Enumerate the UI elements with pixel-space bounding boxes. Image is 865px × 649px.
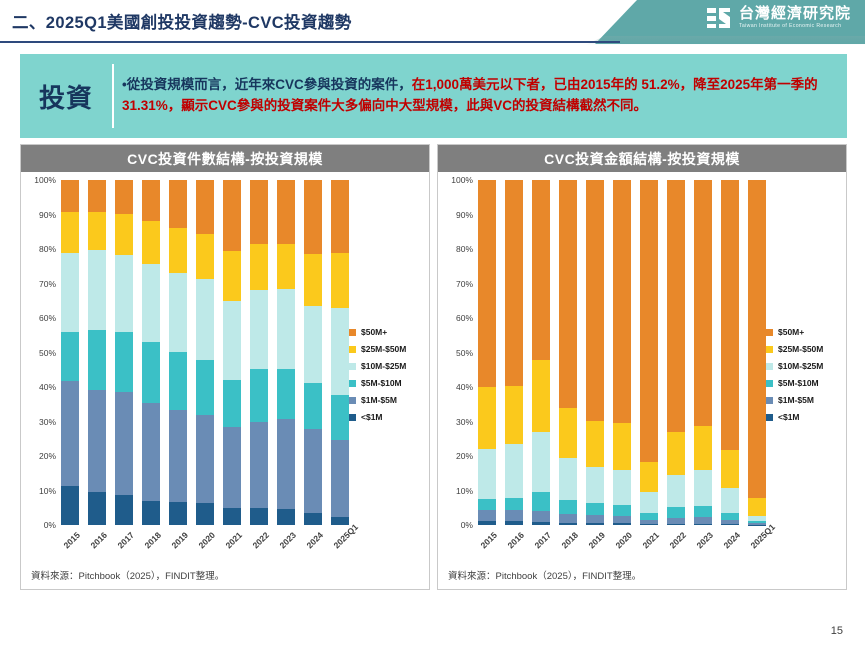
bar-segment bbox=[586, 515, 604, 523]
header-underline bbox=[0, 41, 620, 43]
bar-segment bbox=[142, 403, 160, 501]
y-axis-tick: 80% bbox=[39, 244, 56, 254]
legend-item[interactable]: $25M-$50M bbox=[349, 344, 425, 354]
y-axis-tick: 40% bbox=[456, 382, 473, 392]
bar-segment bbox=[196, 503, 214, 525]
bar-segment bbox=[559, 180, 577, 408]
bar-segment bbox=[640, 180, 658, 462]
bar-segment bbox=[277, 509, 295, 525]
logo-text-block: 台灣經濟研究院 Taiwan Institute of Economic Res… bbox=[739, 6, 851, 29]
stacked-bar[interactable] bbox=[532, 180, 550, 525]
bar-segment bbox=[115, 255, 133, 332]
bar-segment bbox=[115, 495, 133, 525]
legend-label: $10M-$25M bbox=[778, 361, 823, 371]
bar-segment bbox=[304, 254, 322, 306]
bar-segment bbox=[304, 513, 322, 525]
legend-label: $50M+ bbox=[778, 327, 804, 337]
source-note-deal-value: 資料來源：Pitchbook（2025），FINDIT整理。 bbox=[448, 568, 641, 582]
stacked-bar[interactable] bbox=[250, 180, 268, 525]
bar-segment bbox=[505, 444, 523, 497]
bar-segment bbox=[88, 180, 106, 212]
y-axis-tick: 50% bbox=[39, 348, 56, 358]
bar-segment bbox=[613, 180, 631, 423]
page-number: 15 bbox=[831, 625, 843, 637]
bar-segment bbox=[532, 511, 550, 521]
bar-segment bbox=[223, 180, 241, 251]
legend-deal-count: $50M+$25M-$50M$10M-$25M$5M-$10M$1M-$5M<$… bbox=[349, 327, 425, 429]
bar-segment bbox=[667, 507, 685, 517]
bar-segment bbox=[331, 517, 349, 525]
stacked-bar[interactable] bbox=[115, 180, 133, 525]
y-axis-deal-value: 100%90%80%70%60%50%40%30%20%10%0% bbox=[438, 180, 476, 525]
bar-segment bbox=[250, 422, 268, 509]
stacked-bar[interactable] bbox=[505, 180, 523, 525]
bar-segment bbox=[694, 180, 712, 426]
legend-label: $25M-$50M bbox=[778, 344, 823, 354]
stacked-bar[interactable] bbox=[721, 180, 739, 525]
bar-segment bbox=[169, 180, 187, 228]
header-ribbon-shadow bbox=[585, 36, 865, 45]
bar-segment bbox=[169, 273, 187, 352]
y-axis-tick: 100% bbox=[451, 175, 473, 185]
stacked-bar[interactable] bbox=[277, 180, 295, 525]
bar-group-deal-value bbox=[478, 180, 766, 525]
bar-segment bbox=[250, 180, 268, 244]
bar-segment bbox=[505, 386, 523, 445]
bar-segment bbox=[61, 332, 79, 380]
bar-segment bbox=[748, 180, 766, 498]
bar-segment bbox=[721, 524, 739, 525]
legend-item[interactable]: <$1M bbox=[349, 412, 425, 422]
legend-deal-value: $50M+$25M-$50M$10M-$25M$5M-$10M$1M-$5M<$… bbox=[766, 327, 842, 429]
bar-segment bbox=[61, 212, 79, 253]
y-axis-tick: 0% bbox=[461, 520, 473, 530]
bar-segment bbox=[478, 499, 496, 511]
bar-segment bbox=[88, 250, 106, 331]
bar-segment bbox=[223, 301, 241, 380]
bar-segment bbox=[586, 421, 604, 467]
bar-segment bbox=[142, 342, 160, 402]
bar-segment bbox=[304, 306, 322, 384]
bar-segment bbox=[559, 500, 577, 514]
bar-segment bbox=[640, 462, 658, 492]
legend-swatch bbox=[349, 363, 356, 370]
bar-group-deal-count bbox=[61, 180, 349, 525]
bar-segment bbox=[478, 521, 496, 525]
bar-segment bbox=[721, 513, 739, 520]
y-axis-tick: 60% bbox=[39, 313, 56, 323]
tier-logo-icon bbox=[706, 5, 732, 31]
bar-segment bbox=[61, 486, 79, 525]
legend-item[interactable]: $25M-$50M bbox=[766, 344, 842, 354]
bar-segment bbox=[250, 290, 268, 369]
legend-swatch bbox=[766, 414, 773, 421]
legend-item[interactable]: $5M-$10M bbox=[349, 378, 425, 388]
bar-segment bbox=[331, 253, 349, 308]
stacked-bar[interactable] bbox=[169, 180, 187, 525]
slide-header: 台灣經濟研究院 Taiwan Institute of Economic Res… bbox=[0, 0, 865, 44]
legend-label: $25M-$50M bbox=[361, 344, 406, 354]
legend-swatch bbox=[766, 329, 773, 336]
bar-segment bbox=[223, 380, 241, 427]
source-note-deal-count: 資料來源：Pitchbook（2025），FINDIT整理。 bbox=[31, 568, 224, 582]
bar-segment bbox=[721, 488, 739, 513]
legend-item[interactable]: $50M+ bbox=[766, 327, 842, 337]
y-axis-tick: 0% bbox=[44, 520, 56, 530]
bar-segment bbox=[250, 244, 268, 290]
bar-segment bbox=[478, 387, 496, 449]
bar-segment bbox=[250, 369, 268, 421]
bar-segment bbox=[667, 432, 685, 475]
bar-segment bbox=[748, 498, 766, 515]
bar-segment bbox=[196, 234, 214, 280]
bar-segment bbox=[277, 369, 295, 420]
bar-segment bbox=[721, 450, 739, 488]
bar-segment bbox=[694, 506, 712, 517]
legend-swatch bbox=[349, 380, 356, 387]
organization-logo: 台灣經濟研究院 Taiwan Institute of Economic Res… bbox=[706, 5, 851, 31]
bar-segment bbox=[115, 392, 133, 494]
bar-segment bbox=[694, 517, 712, 524]
bar-segment bbox=[223, 427, 241, 507]
bar-segment bbox=[331, 440, 349, 517]
legend-label: $50M+ bbox=[361, 327, 387, 337]
y-axis-tick: 10% bbox=[39, 486, 56, 496]
bar-segment bbox=[196, 360, 214, 415]
bar-segment bbox=[613, 423, 631, 470]
logo-text-english: Taiwan Institute of Economic Research bbox=[739, 24, 851, 29]
bar-segment bbox=[694, 524, 712, 525]
plot-area-deal-value bbox=[478, 180, 766, 525]
legend-swatch bbox=[349, 397, 356, 404]
bar-segment bbox=[88, 212, 106, 250]
bar-segment bbox=[223, 251, 241, 301]
legend-label: $1M-$5M bbox=[778, 395, 814, 405]
bar-segment bbox=[169, 228, 187, 273]
bar-segment bbox=[586, 467, 604, 503]
stacked-bar[interactable] bbox=[142, 180, 160, 525]
bar-segment bbox=[169, 502, 187, 525]
callout-box: 投資 •從投資規模而言，近年來CVC參與投資的案件，在1,000萬美元以下者，已… bbox=[20, 54, 847, 138]
callout-text-lead: 從投資規模而言，近年來CVC參與投資的案件， bbox=[127, 77, 412, 92]
bar-segment bbox=[304, 180, 322, 254]
bar-segment bbox=[667, 475, 685, 508]
stacked-bar[interactable] bbox=[223, 180, 241, 525]
y-axis-deal-count: 100%90%80%70%60%50%40%30%20%10%0% bbox=[21, 180, 59, 525]
bar-segment bbox=[532, 492, 550, 511]
y-axis-tick: 40% bbox=[39, 382, 56, 392]
chart-title-deal-value: CVC投資金額結構-按投資規模 bbox=[438, 145, 846, 172]
bar-segment bbox=[142, 264, 160, 342]
stacked-bar[interactable] bbox=[559, 180, 577, 525]
bar-segment bbox=[667, 180, 685, 432]
y-axis-tick: 70% bbox=[456, 279, 473, 289]
callout-tag-label: 投資 bbox=[20, 78, 112, 115]
bar-segment bbox=[559, 458, 577, 499]
y-axis-tick: 90% bbox=[456, 210, 473, 220]
bar-segment bbox=[478, 180, 496, 387]
bar-segment bbox=[223, 508, 241, 525]
y-axis-tick: 100% bbox=[34, 175, 56, 185]
stacked-bar[interactable] bbox=[640, 180, 658, 525]
legend-swatch bbox=[766, 363, 773, 370]
bar-segment bbox=[61, 253, 79, 332]
chart-panel-deal-count: CVC投資件數結構-按投資規模 100%90%80%70%60%50%40%30… bbox=[20, 144, 430, 590]
y-axis-tick: 20% bbox=[456, 451, 473, 461]
y-axis-tick: 90% bbox=[39, 210, 56, 220]
bar-segment bbox=[277, 289, 295, 368]
bar-segment bbox=[559, 408, 577, 458]
bar-segment bbox=[505, 510, 523, 521]
legend-label: $1M-$5M bbox=[361, 395, 397, 405]
stacked-bar[interactable] bbox=[304, 180, 322, 525]
legend-swatch bbox=[349, 414, 356, 421]
bar-segment bbox=[613, 516, 631, 523]
legend-item[interactable]: <$1M bbox=[766, 412, 842, 422]
legend-swatch bbox=[766, 346, 773, 353]
slide-root: 台灣經濟研究院 Taiwan Institute of Economic Res… bbox=[0, 0, 865, 649]
legend-item[interactable]: $1M-$5M bbox=[349, 395, 425, 405]
page-title: 二、2025Q1美國創投投資趨勢-CVC投資趨勢 bbox=[12, 9, 352, 33]
legend-item[interactable]: $50M+ bbox=[349, 327, 425, 337]
chart-body-deal-count: 100%90%80%70%60%50%40%30%20%10%0% 201520… bbox=[21, 172, 429, 590]
y-axis-tick: 70% bbox=[39, 279, 56, 289]
logo-text-chinese: 台灣經濟研究院 bbox=[739, 6, 851, 21]
legend-item[interactable]: $5M-$10M bbox=[766, 378, 842, 388]
legend-label: $5M-$10M bbox=[361, 378, 402, 388]
bar-segment bbox=[331, 395, 349, 440]
bar-segment bbox=[586, 503, 604, 515]
stacked-bar[interactable] bbox=[748, 180, 766, 525]
bar-segment bbox=[640, 524, 658, 525]
plot-area-deal-count bbox=[61, 180, 349, 525]
bar-segment bbox=[115, 180, 133, 214]
y-axis-tick: 30% bbox=[39, 417, 56, 427]
bar-segment bbox=[532, 360, 550, 432]
bar-segment bbox=[331, 180, 349, 253]
bar-segment bbox=[142, 180, 160, 221]
bar-segment bbox=[61, 381, 79, 487]
legend-label: <$1M bbox=[361, 412, 383, 422]
legend-swatch bbox=[766, 397, 773, 404]
bar-segment bbox=[88, 330, 106, 390]
bar-segment bbox=[196, 279, 214, 359]
bar-segment bbox=[613, 470, 631, 505]
bar-segment bbox=[88, 390, 106, 492]
bar-segment bbox=[196, 180, 214, 234]
chart-body-deal-value: 100%90%80%70%60%50%40%30%20%10%0% 201520… bbox=[438, 172, 846, 590]
bar-segment bbox=[586, 180, 604, 421]
legend-item[interactable]: $1M-$5M bbox=[766, 395, 842, 405]
bar-segment bbox=[505, 521, 523, 525]
y-axis-tick: 20% bbox=[39, 451, 56, 461]
bar-segment bbox=[169, 410, 187, 502]
y-axis-tick: 60% bbox=[456, 313, 473, 323]
bar-segment bbox=[169, 352, 187, 410]
legend-label: $5M-$10M bbox=[778, 378, 819, 388]
bar-segment bbox=[331, 308, 349, 395]
y-axis-tick: 50% bbox=[456, 348, 473, 358]
y-axis-tick: 80% bbox=[456, 244, 473, 254]
bar-segment bbox=[61, 180, 79, 212]
legend-swatch bbox=[349, 329, 356, 336]
bar-segment bbox=[196, 415, 214, 503]
chart-panel-deal-value: CVC投資金額結構-按投資規模 100%90%80%70%60%50%40%30… bbox=[437, 144, 847, 590]
callout-text: •從投資規模而言，近年來CVC參與投資的案件，在1,000萬美元以下者，已由20… bbox=[114, 71, 847, 120]
legend-swatch bbox=[349, 346, 356, 353]
bar-segment bbox=[586, 523, 604, 525]
bar-segment bbox=[559, 514, 577, 523]
bar-segment bbox=[532, 180, 550, 360]
bar-segment bbox=[88, 492, 106, 525]
bar-segment bbox=[250, 508, 268, 525]
bar-segment bbox=[142, 501, 160, 525]
bar-segment bbox=[694, 426, 712, 471]
legend-item[interactable]: $10M-$25M bbox=[349, 361, 425, 371]
bar-segment bbox=[667, 524, 685, 525]
stacked-bar[interactable] bbox=[61, 180, 79, 525]
stacked-bar[interactable] bbox=[478, 180, 496, 525]
bar-segment bbox=[721, 180, 739, 450]
legend-swatch bbox=[766, 380, 773, 387]
bar-segment bbox=[304, 383, 322, 429]
bar-segment bbox=[115, 214, 133, 255]
bar-segment bbox=[613, 505, 631, 516]
bar-segment bbox=[142, 221, 160, 264]
bar-segment bbox=[277, 244, 295, 290]
stacked-bar[interactable] bbox=[88, 180, 106, 525]
stacked-bar[interactable] bbox=[331, 180, 349, 525]
bar-segment bbox=[478, 449, 496, 499]
bar-segment bbox=[532, 522, 550, 525]
y-axis-tick: 10% bbox=[456, 486, 473, 496]
bar-segment bbox=[115, 332, 133, 392]
stacked-bar[interactable] bbox=[586, 180, 604, 525]
stacked-bar[interactable] bbox=[196, 180, 214, 525]
bar-segment bbox=[304, 429, 322, 514]
bar-segment bbox=[277, 180, 295, 244]
legend-item[interactable]: $10M-$25M bbox=[766, 361, 842, 371]
legend-label: <$1M bbox=[778, 412, 800, 422]
bar-segment bbox=[640, 492, 658, 513]
stacked-bar[interactable] bbox=[613, 180, 631, 525]
stacked-bar[interactable] bbox=[667, 180, 685, 525]
bar-segment bbox=[613, 523, 631, 525]
stacked-bar[interactable] bbox=[694, 180, 712, 525]
bar-segment bbox=[532, 432, 550, 492]
bar-segment bbox=[478, 510, 496, 521]
bar-segment bbox=[277, 419, 295, 509]
bar-segment bbox=[694, 470, 712, 505]
bar-segment bbox=[505, 180, 523, 386]
legend-label: $10M-$25M bbox=[361, 361, 406, 371]
bar-segment bbox=[559, 523, 577, 525]
bar-segment bbox=[505, 498, 523, 510]
y-axis-tick: 30% bbox=[456, 417, 473, 427]
chart-title-deal-count: CVC投資件數結構-按投資規模 bbox=[21, 145, 429, 172]
